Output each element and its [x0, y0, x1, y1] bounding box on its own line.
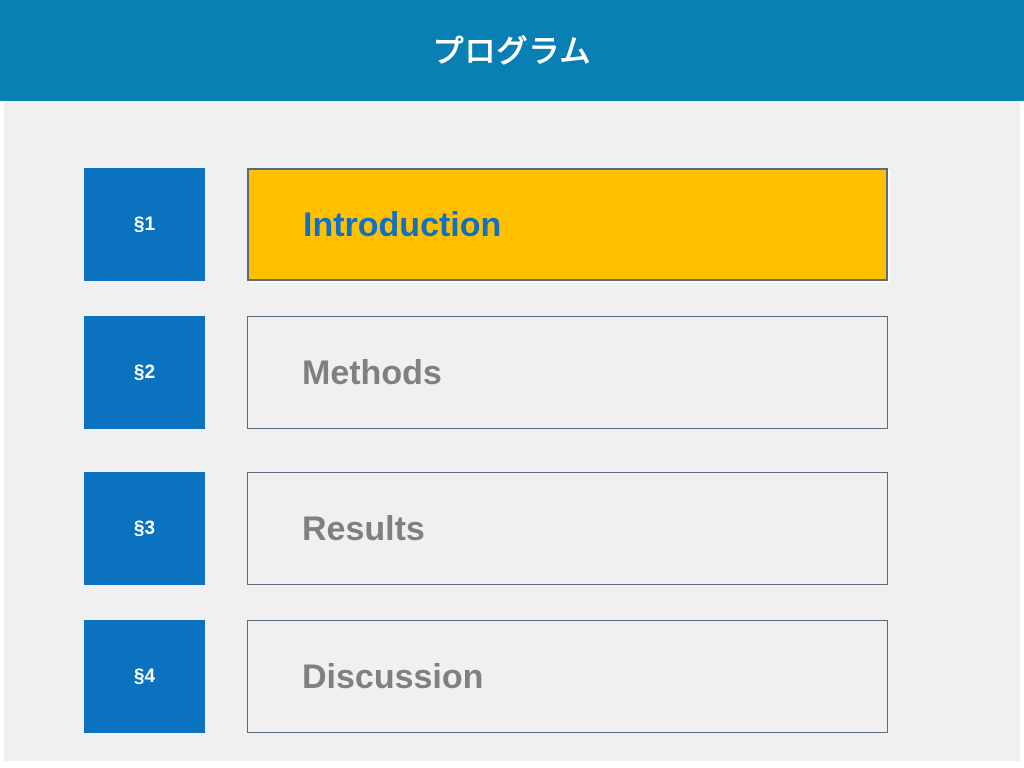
section-number-badge-1[interactable]: §1 [84, 168, 205, 281]
section-panel-4[interactable]: Discussion [247, 620, 888, 733]
section-title-label: Methods [248, 356, 442, 390]
section-number-label: §1 [134, 215, 155, 234]
section-number-badge-3[interactable]: §3 [84, 472, 205, 585]
section-number-label: §2 [134, 363, 155, 382]
section-panel-1[interactable]: Introduction [247, 168, 888, 281]
section-panel-2[interactable]: Methods [247, 316, 888, 429]
agenda-slide: プログラム §1 Introduction §2 Methods [0, 0, 1024, 768]
agenda-item-4[interactable]: §4 Discussion [4, 620, 1020, 733]
page-title: プログラム [432, 36, 591, 67]
section-number-badge-4[interactable]: §4 [84, 620, 205, 733]
section-title-label: Introduction [249, 208, 501, 242]
agenda-list: §1 Introduction §2 Methods §3 [4, 101, 1020, 761]
section-panel-3[interactable]: Results [247, 472, 888, 585]
section-number-label: §3 [134, 519, 155, 538]
agenda-item-1[interactable]: §1 Introduction [4, 168, 1020, 281]
section-number-label: §4 [134, 667, 155, 686]
section-title-label: Results [248, 512, 425, 546]
section-title-label: Discussion [248, 660, 483, 694]
slide-body: §1 Introduction §2 Methods §3 [4, 101, 1020, 761]
slide-header-band: プログラム [0, 0, 1024, 101]
section-number-badge-2[interactable]: §2 [84, 316, 205, 429]
agenda-item-3[interactable]: §3 Results [4, 472, 1020, 585]
agenda-item-2[interactable]: §2 Methods [4, 316, 1020, 429]
